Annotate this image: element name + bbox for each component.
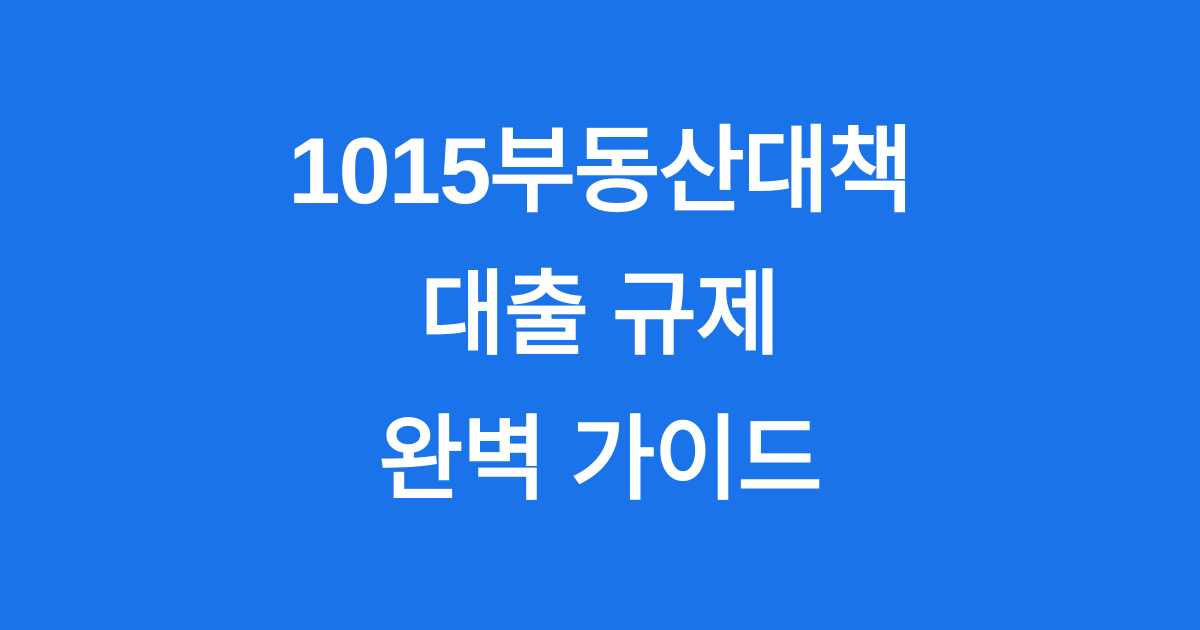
headline-line-2: 대출 규제 [420,243,779,388]
headline-line-3: 완벽 가이드 [379,388,822,533]
headline-block: 1015부동산대책 대출 규제 완벽 가이드 [0,98,1200,533]
headline-line-1: 1015부동산대책 [288,98,912,243]
banner-card: 1015부동산대책 대출 규제 완벽 가이드 [0,0,1200,630]
